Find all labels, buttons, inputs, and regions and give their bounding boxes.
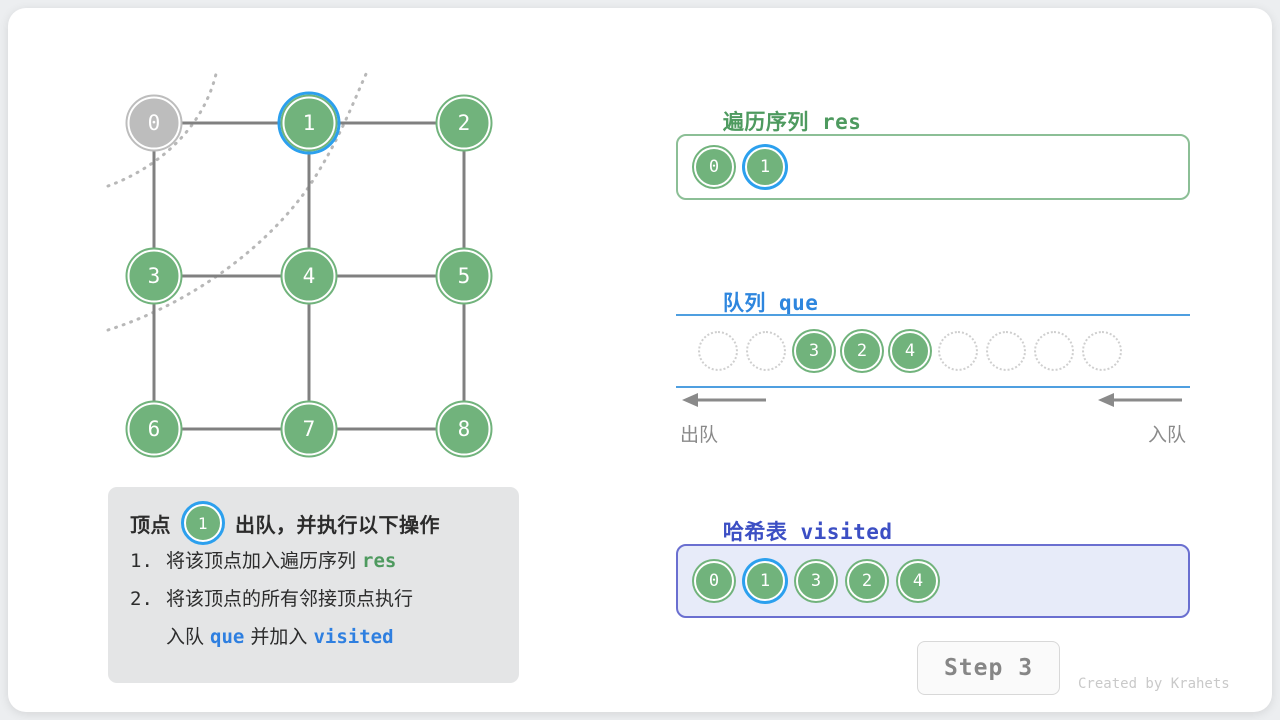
dequeue-label: 出队 bbox=[680, 420, 770, 447]
step-badge: Step 3 bbox=[917, 641, 1060, 695]
caption-step-text-2-3: visited bbox=[313, 618, 393, 656]
queue-slots: 324 bbox=[676, 316, 1190, 386]
caption-title-suffix: 出队，并执行以下操作 bbox=[235, 509, 440, 538]
credit-text: Created by Krahets bbox=[1078, 676, 1230, 692]
queue-bottom-rail bbox=[676, 386, 1190, 388]
caption-step-number: 2. bbox=[130, 580, 166, 618]
slide-card: 012345678 顶点 1 出队，并执行以下操作 1.将该顶点加入遍历序列 r… bbox=[8, 8, 1272, 712]
right-panel: 遍历序列 res 01 队列 que 324 出队 bbox=[668, 8, 1272, 712]
caption-box: 顶点 1 出队，并执行以下操作 1.将该顶点加入遍历序列 res2.将该顶点的所… bbox=[108, 487, 519, 683]
enqueue-arrow-icon bbox=[1096, 392, 1186, 408]
graph-node-0[interactable]: 0 bbox=[127, 96, 182, 151]
queue-arrows: 出队 入队 bbox=[676, 392, 1190, 454]
caption-title-prefix: 顶点 bbox=[130, 509, 171, 538]
visited-item-1: 1 bbox=[745, 561, 785, 601]
caption-step-1: 2.将该顶点的所有邻接顶点执行 bbox=[130, 580, 497, 618]
graph-node-3[interactable]: 3 bbox=[127, 249, 182, 304]
visited-item-4: 4 bbox=[898, 561, 938, 601]
res-heading-cn: 遍历序列 bbox=[723, 110, 809, 134]
enqueue-group: 入队 bbox=[1096, 392, 1186, 447]
caption-step-number: 1. bbox=[130, 542, 166, 580]
node-label: 3 bbox=[148, 264, 161, 288]
node-label: 6 bbox=[148, 417, 161, 441]
queue-slot-5 bbox=[938, 331, 978, 371]
caption-step-text-0-0: 将该顶点加入遍历序列 bbox=[166, 542, 362, 580]
graph-node-4[interactable]: 4 bbox=[282, 249, 337, 304]
graph-node-6[interactable]: 6 bbox=[127, 402, 182, 457]
node-label: 7 bbox=[303, 417, 316, 441]
res-heading-mono: res bbox=[809, 110, 862, 134]
node-label: 8 bbox=[458, 417, 471, 441]
caption-step-text-1-0: 将该顶点的所有邻接顶点执行 bbox=[166, 580, 413, 618]
queue-slot-2: 3 bbox=[794, 331, 834, 371]
node-label: 4 bbox=[303, 264, 316, 288]
graph-svg: 012345678 bbox=[8, 8, 608, 488]
queue-slot-0 bbox=[698, 331, 738, 371]
caption-step-text-2-1: que bbox=[210, 618, 244, 656]
queue-slot-4: 4 bbox=[890, 331, 930, 371]
graph-node-2[interactable]: 2 bbox=[437, 96, 492, 151]
queue-heading-mono: que bbox=[766, 291, 819, 315]
graph-node-5[interactable]: 5 bbox=[437, 249, 492, 304]
graph-node-1[interactable]: 1 bbox=[279, 93, 339, 153]
visited-container: 01324 bbox=[676, 544, 1190, 618]
queue-slot-3: 2 bbox=[842, 331, 882, 371]
node-label: 1 bbox=[303, 111, 316, 135]
caption-step-text-0-1: res bbox=[362, 542, 396, 580]
graph-node-8[interactable]: 8 bbox=[437, 402, 492, 457]
node-label: 2 bbox=[458, 111, 471, 135]
caption-node-circle: 1 bbox=[184, 504, 222, 542]
queue-slot-8 bbox=[1082, 331, 1122, 371]
queue-container: 324 出队 入队 bbox=[676, 314, 1190, 454]
caption-steps: 1.将该顶点加入遍历序列 res2.将该顶点的所有邻接顶点执行入队 que 并加… bbox=[130, 542, 497, 656]
res-item-0: 0 bbox=[694, 147, 734, 187]
node-label: 0 bbox=[148, 111, 161, 135]
visited-item-0: 0 bbox=[694, 561, 734, 601]
visited-item-3: 2 bbox=[847, 561, 887, 601]
caption-title: 顶点 1 出队，并执行以下操作 bbox=[130, 504, 497, 542]
queue-slot-6 bbox=[986, 331, 1026, 371]
caption-step-text-2-2: 并加入 bbox=[244, 618, 313, 656]
visited-heading-cn: 哈希表 bbox=[723, 520, 788, 544]
queue-slot-7 bbox=[1034, 331, 1074, 371]
res-container: 01 bbox=[676, 134, 1190, 200]
queue-heading-cn: 队列 bbox=[723, 291, 766, 315]
dequeue-group: 出队 bbox=[680, 392, 770, 447]
enqueue-label: 入队 bbox=[1096, 420, 1186, 447]
caption-step-2: 入队 que 并加入 visited bbox=[130, 618, 497, 656]
dequeue-arrow-icon bbox=[680, 392, 770, 408]
caption-step-text-2-0: 入队 bbox=[166, 618, 210, 656]
visited-heading-mono: visited bbox=[787, 520, 892, 544]
queue-slot-1 bbox=[746, 331, 786, 371]
res-item-1: 1 bbox=[745, 147, 785, 187]
visited-item-2: 3 bbox=[796, 561, 836, 601]
node-label: 5 bbox=[458, 264, 471, 288]
caption-step-0: 1.将该顶点加入遍历序列 res bbox=[130, 542, 497, 580]
caption-step-indent bbox=[130, 618, 166, 656]
graph-node-7[interactable]: 7 bbox=[282, 402, 337, 457]
